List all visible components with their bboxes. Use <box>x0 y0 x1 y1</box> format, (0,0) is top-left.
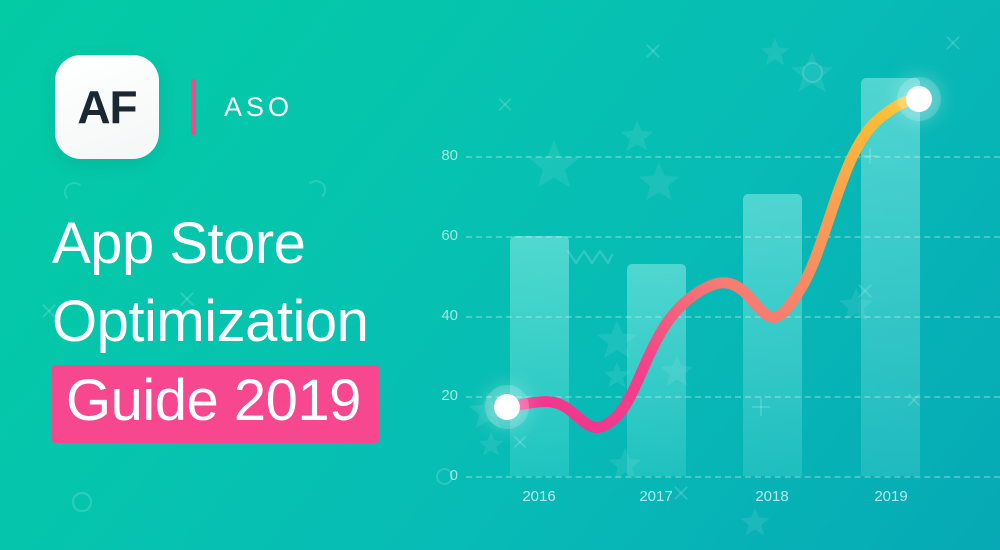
x-axis-tick-2019: 2019 <box>856 488 926 505</box>
x-axis-tick-2017: 2017 <box>621 488 691 505</box>
headline-line-2: Optimization <box>52 283 472 361</box>
headline-line-3: Guide 2019 <box>66 368 361 433</box>
logo-subtitle: ASO <box>224 92 293 123</box>
app-logo-tile: AF <box>55 55 159 159</box>
headline-block: App Store Optimization Guide 2019 <box>52 205 472 443</box>
x-axis-tick-2016: 2016 <box>504 488 574 505</box>
headline-line-1: App Store <box>52 205 472 283</box>
x-axis-tick-2018: 2018 <box>737 488 807 505</box>
headline-highlight-box: Guide 2019 <box>52 365 379 443</box>
logo-wordmark: AF <box>77 84 136 130</box>
headline-highlight-row: Guide 2019 <box>52 365 472 443</box>
data-point-start[interactable] <box>494 394 520 420</box>
data-point-end[interactable] <box>906 86 932 112</box>
logo-divider <box>191 79 196 135</box>
logo-block: AF ASO <box>55 55 293 159</box>
banner-canvas: 80 60 40 20 0 <box>0 0 1000 550</box>
